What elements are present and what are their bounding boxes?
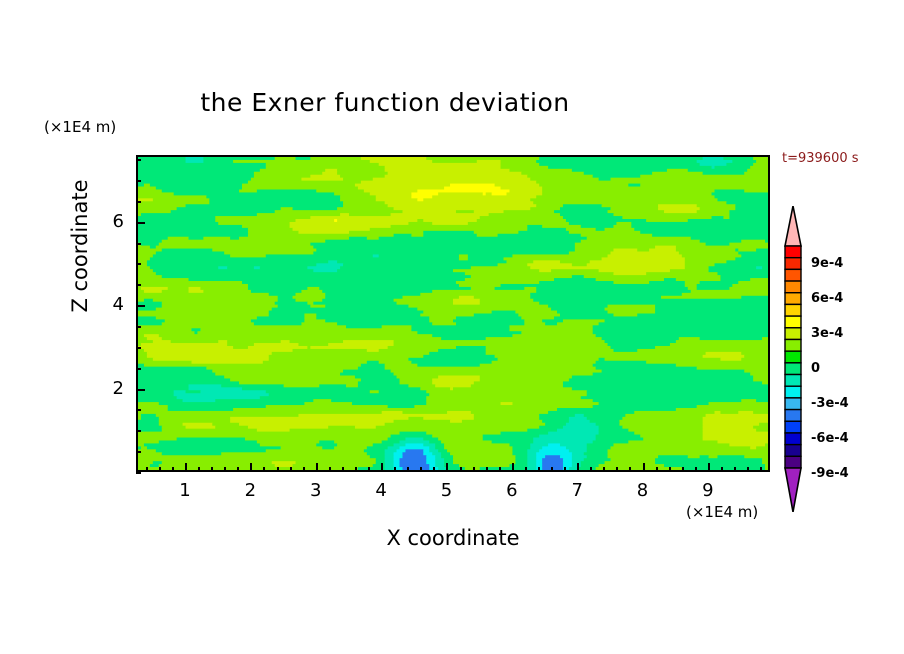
y-tick-minor	[136, 368, 141, 370]
x-tick-minor	[237, 467, 239, 472]
y-tick-minor	[136, 409, 141, 411]
x-tick-minor	[616, 467, 618, 472]
y-tick-minor	[136, 201, 141, 203]
x-tick-minor	[342, 467, 344, 472]
contour-plot-figure: the Exner function deviation (×1E4 m) (×…	[0, 0, 904, 654]
x-tick-minor	[211, 467, 213, 472]
colorbar-band	[785, 339, 801, 351]
y-tick-major	[136, 305, 145, 307]
colorbar-tick-label: 9e-4	[811, 256, 843, 271]
timestamp-annotation: t=939600 s	[782, 151, 859, 166]
colorbar-band	[785, 398, 801, 410]
y-tick-minor	[136, 180, 141, 182]
colorbar-tick-label: -9e-4	[811, 466, 849, 481]
x-tick-minor	[198, 467, 200, 472]
y-tick-minor	[136, 451, 141, 453]
x-tick-minor	[486, 467, 488, 472]
x-tick-minor	[355, 467, 357, 472]
x-tick-label: 2	[230, 480, 270, 501]
y-tick-minor	[136, 472, 141, 474]
x-tick-minor	[760, 467, 762, 472]
colorbar-band	[785, 351, 801, 363]
page-title: the Exner function deviation	[0, 88, 770, 117]
x-tick-minor	[747, 467, 749, 472]
x-tick-label: 6	[492, 480, 532, 501]
x-tick-major	[643, 463, 645, 472]
y-tick-label: 6	[84, 211, 124, 232]
colorbar-swatches	[784, 206, 802, 512]
x-tick-minor	[538, 467, 540, 472]
x-tick-major	[577, 463, 579, 472]
x-axis-title: X coordinate	[136, 526, 770, 550]
x-tick-minor	[656, 467, 658, 472]
x-tick-major	[316, 463, 318, 472]
y-tick-minor	[136, 243, 141, 245]
plot-area	[136, 155, 770, 472]
x-tick-label: 1	[165, 480, 205, 501]
x-tick-major	[446, 463, 448, 472]
x-axis-units-label: (×1E4 m)	[686, 503, 758, 521]
y-axis-title: Z coordinate	[68, 146, 92, 346]
x-tick-major	[381, 463, 383, 472]
x-tick-minor	[473, 467, 475, 472]
y-tick-label: 4	[84, 294, 124, 315]
colorbar-tick-label: 0	[811, 361, 820, 376]
x-tick-minor	[460, 467, 462, 472]
x-tick-minor	[263, 467, 265, 472]
colorbar	[784, 206, 802, 512]
y-tick-minor	[136, 263, 141, 265]
colorbar-tick-label: 3e-4	[811, 326, 843, 341]
y-tick-label: 2	[84, 378, 124, 399]
colorbar-band	[785, 328, 801, 340]
colorbar-band	[785, 293, 801, 305]
colorbar-band	[785, 445, 801, 457]
x-tick-minor	[499, 467, 501, 472]
colorbar-band	[785, 456, 801, 468]
x-tick-minor	[290, 467, 292, 472]
colorbar-band	[785, 410, 801, 422]
x-tick-minor	[603, 467, 605, 472]
x-tick-minor	[734, 467, 736, 472]
colorbar-band	[785, 375, 801, 387]
y-tick-major	[136, 222, 145, 224]
contour-field	[138, 157, 768, 470]
y-tick-minor	[136, 347, 141, 349]
y-tick-minor	[136, 284, 141, 286]
colorbar-under-arrow	[785, 468, 801, 512]
colorbar-band	[785, 363, 801, 375]
x-tick-minor	[629, 467, 631, 472]
x-tick-minor	[551, 467, 553, 472]
colorbar-over-arrow	[785, 206, 801, 246]
x-tick-minor	[368, 467, 370, 472]
x-tick-minor	[224, 467, 226, 472]
colorbar-band	[785, 269, 801, 281]
x-tick-minor	[433, 467, 435, 472]
y-tick-minor	[136, 430, 141, 432]
y-axis-units-label: (×1E4 m)	[44, 118, 116, 136]
colorbar-band	[785, 258, 801, 270]
colorbar-tick-label: 6e-4	[811, 291, 843, 306]
x-tick-label: 3	[296, 480, 336, 501]
x-tick-label: 9	[688, 480, 728, 501]
x-tick-minor	[303, 467, 305, 472]
colorbar-band	[785, 433, 801, 445]
x-tick-minor	[172, 467, 174, 472]
x-tick-minor	[525, 467, 527, 472]
x-tick-label: 4	[361, 480, 401, 501]
colorbar-band	[785, 304, 801, 316]
y-tick-minor	[136, 159, 141, 161]
x-tick-major	[512, 463, 514, 472]
x-tick-minor	[146, 467, 148, 472]
colorbar-band	[785, 246, 801, 258]
colorbar-tick-label: -6e-4	[811, 431, 849, 446]
x-tick-minor	[420, 467, 422, 472]
colorbar-band	[785, 281, 801, 293]
x-tick-minor	[394, 467, 396, 472]
x-tick-label: 8	[623, 480, 663, 501]
y-tick-major	[136, 389, 145, 391]
x-tick-minor	[695, 467, 697, 472]
colorbar-band	[785, 386, 801, 398]
x-tick-major	[708, 463, 710, 472]
x-tick-minor	[277, 467, 279, 472]
x-tick-minor	[682, 467, 684, 472]
colorbar-tick-label: -3e-4	[811, 396, 849, 411]
x-tick-minor	[329, 467, 331, 472]
x-tick-minor	[669, 467, 671, 472]
y-tick-minor	[136, 326, 141, 328]
x-tick-minor	[159, 467, 161, 472]
x-tick-minor	[721, 467, 723, 472]
x-tick-major	[250, 463, 252, 472]
x-tick-minor	[564, 467, 566, 472]
x-tick-minor	[407, 467, 409, 472]
colorbar-band	[785, 316, 801, 328]
colorbar-band	[785, 421, 801, 433]
x-tick-minor	[590, 467, 592, 472]
x-tick-major	[185, 463, 187, 472]
x-tick-label: 5	[426, 480, 466, 501]
x-tick-label: 7	[557, 480, 597, 501]
